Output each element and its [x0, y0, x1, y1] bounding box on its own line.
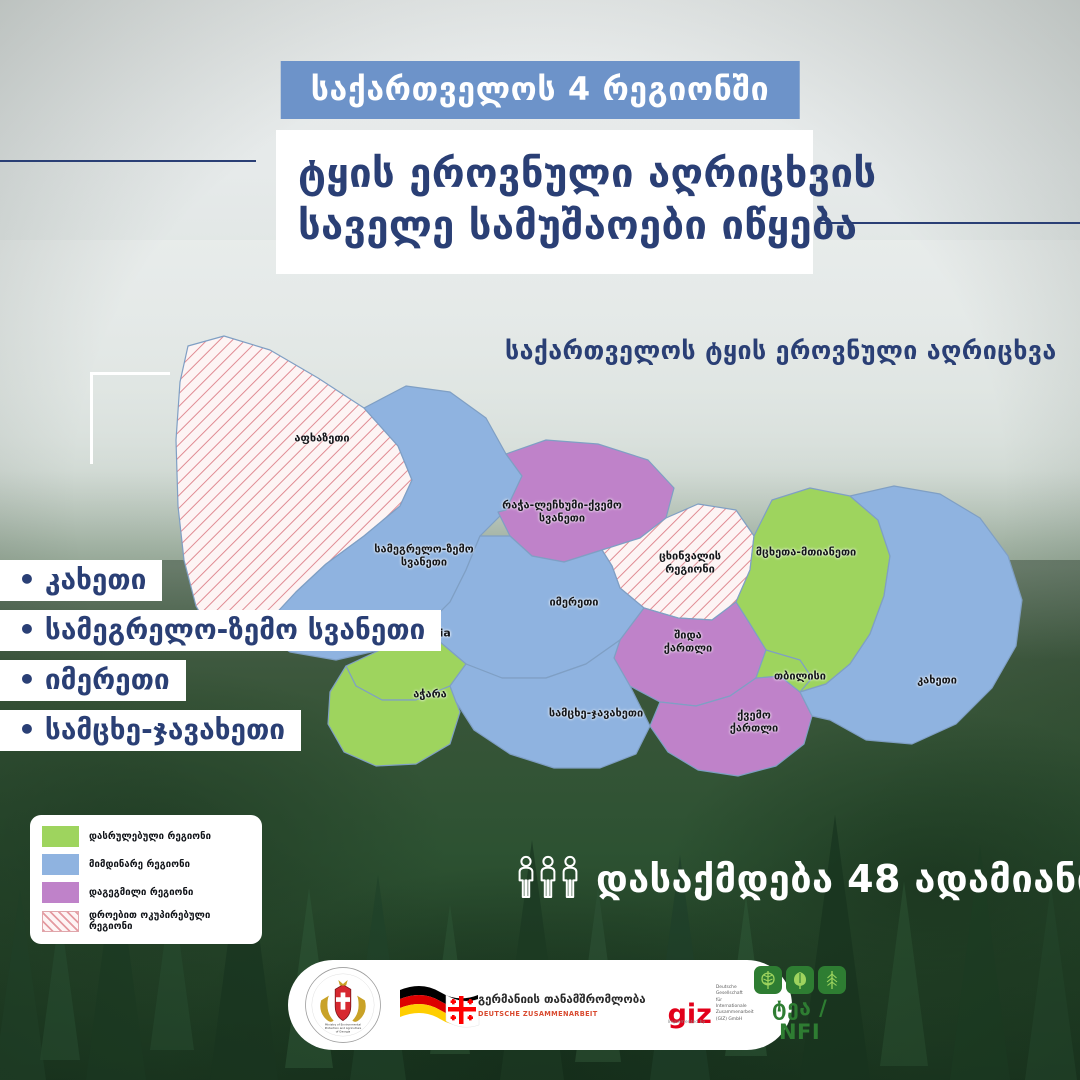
legend-row: დროებით ოკუპირებული რეგიონი — [42, 910, 250, 932]
person-icon — [560, 855, 580, 903]
german-cooperation-label-en: DEUTSCHE ZUSAMMENARBEIT — [478, 1010, 646, 1018]
svg-text:of Georgia: of Georgia — [336, 1029, 351, 1033]
employment-label: დასაქმდება 48 ადამიანი — [596, 857, 1080, 901]
nfi-wordmark: ტეა / NFI — [754, 996, 846, 1044]
people-icons — [516, 855, 580, 903]
region-list-item: იმერეთი — [0, 660, 186, 701]
ministry-emblem-icon: Ministry of Environmental Protection and… — [304, 966, 382, 1044]
legend-label: დაგეგმილი რეგიონი — [89, 887, 193, 898]
decorative-rule-right — [818, 222, 1080, 224]
target-region-list: კახეთისამეგრელო-ზემო სვანეთიიმერეთისამცხ… — [0, 560, 441, 760]
region-list-item-label: სამცხე-ჯავახეთი — [45, 713, 285, 746]
header-kicker: საქართველოს 4 რეგიონში — [281, 61, 800, 119]
page-title-line-2: საველე სამუშაოები იწყება — [298, 200, 791, 252]
giz-implemented-by-label: Implemented by — [668, 1020, 706, 1025]
legend-row: დასრულებული რეგიონი — [42, 826, 250, 847]
region-list-item-label: კახეთი — [45, 563, 146, 596]
region-list-item: კახეთი — [0, 560, 162, 601]
legend-swatch-hatch — [42, 911, 79, 932]
legend-swatch-blue — [42, 854, 79, 875]
person-icon — [538, 855, 558, 903]
broadleaf-icon — [754, 966, 782, 994]
footer-logo-bar: Ministry of Environmental Protection and… — [288, 960, 792, 1050]
giz-full-name: Deutsche Gesellschaft für Internationale… — [716, 985, 754, 1023]
region-list-item: სამეგრელო-ზემო სვანეთი — [0, 610, 441, 651]
german-cooperation-logo: გერმანიის თანამშრომლობა DEUTSCHE ZUSAMME… — [396, 978, 646, 1032]
conifer-icon — [818, 966, 846, 994]
legend-swatch-purple — [42, 882, 79, 903]
legend-label: მიმდინარე რეგიონი — [89, 859, 190, 870]
tree-icon — [786, 966, 814, 994]
nfi-logo: ტეა / NFI — [754, 966, 846, 1044]
legend-row: დაგეგმილი რეგიონი — [42, 882, 250, 903]
legend-label: დასრულებული რეგიონი — [89, 831, 211, 842]
employment-stat: დასაქმდება 48 ადამიანი — [516, 855, 1080, 903]
region-list-item-label: სამეგრელო-ზემო სვანეთი — [45, 613, 425, 646]
decorative-rule-left — [0, 160, 256, 162]
german-georgian-flag-ribbon-icon — [396, 978, 482, 1032]
page-title: ტყის ეროვნული აღრიცხვის საველე სამუშაოებ… — [276, 130, 813, 274]
map-legend: დასრულებული რეგიონიმიმდინარე რეგიონიდაგე… — [30, 815, 262, 944]
region-list-item-label: იმერეთი — [45, 663, 170, 696]
page-title-line-1: ტყის ეროვნული აღრიცხვის — [298, 148, 791, 200]
legend-row: მიმდინარე რეგიონი — [42, 854, 250, 875]
giz-logo: Implemented by giz Deutsche Gesellschaft… — [668, 985, 754, 1025]
nfi-leaf-icons — [754, 966, 846, 994]
person-icon — [516, 855, 536, 903]
legend-swatch-green — [42, 826, 79, 847]
german-cooperation-label-ka: გერმანიის თანამშრომლობა — [478, 992, 646, 1006]
legend-label: დროებით ოკუპირებული რეგიონი — [89, 910, 250, 932]
region-list-item: სამცხე-ჯავახეთი — [0, 710, 301, 751]
